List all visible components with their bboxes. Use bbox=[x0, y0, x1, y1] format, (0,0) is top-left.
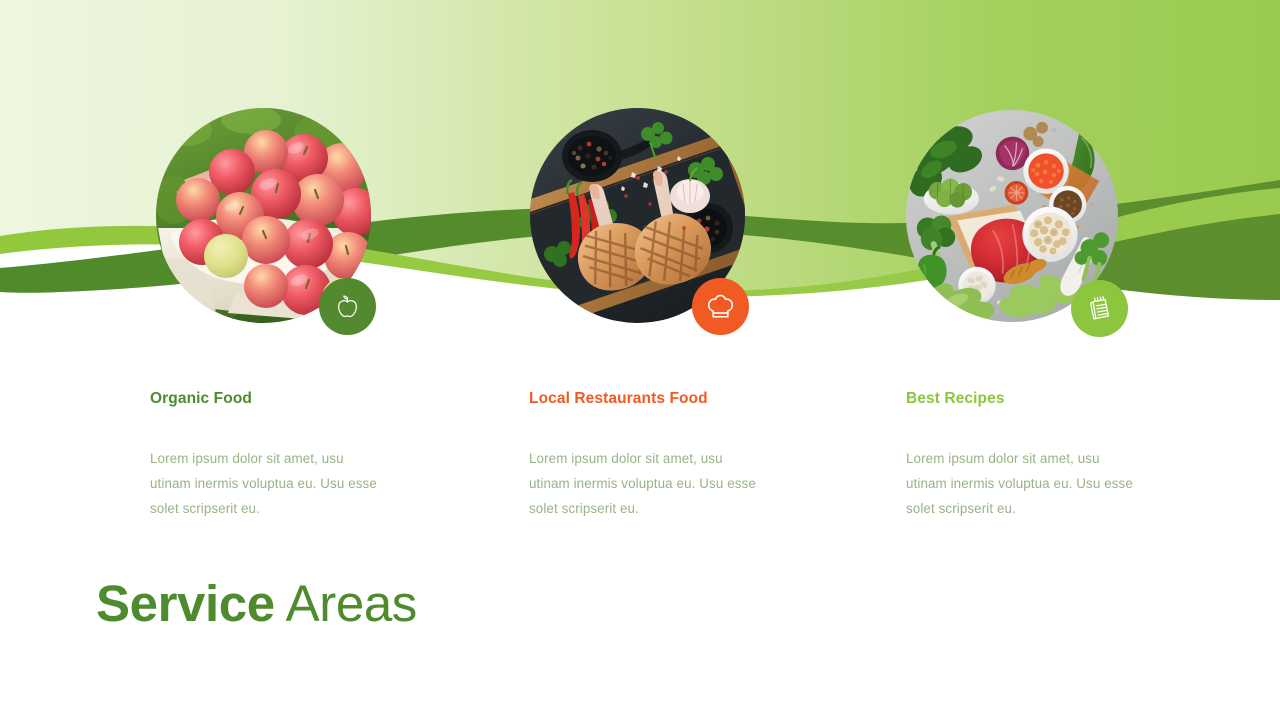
card-local-restaurants-food[interactable]: Local Restaurants Food Lorem ipsum dolor… bbox=[529, 0, 909, 540]
notepad-icon bbox=[1086, 295, 1114, 323]
badge-apple[interactable] bbox=[319, 278, 376, 335]
card-body: Lorem ipsum dolor sit amet, usu utinam i… bbox=[150, 446, 382, 521]
chef-hat-icon bbox=[706, 292, 735, 321]
cards-row: Organic Food Lorem ipsum dolor sit amet,… bbox=[0, 0, 1280, 540]
card-best-recipes[interactable]: Best Recipes Lorem ipsum dolor sit amet,… bbox=[906, 0, 1280, 540]
card-organic-food[interactable]: Organic Food Lorem ipsum dolor sit amet,… bbox=[150, 0, 530, 540]
best-recipes-photo-wrap bbox=[906, 110, 1118, 322]
organic-food-photo-wrap bbox=[156, 108, 371, 323]
card-title: Local Restaurants Food bbox=[529, 390, 708, 408]
page-title-light: Areas bbox=[275, 575, 417, 632]
slide-root: Organic Food Lorem ipsum dolor sit amet,… bbox=[0, 0, 1280, 720]
local-restaurants-photo-wrap bbox=[530, 108, 745, 323]
apple-icon bbox=[334, 293, 361, 320]
badge-chef-hat[interactable] bbox=[692, 278, 749, 335]
badge-notepad[interactable] bbox=[1071, 280, 1128, 337]
card-title: Best Recipes bbox=[906, 390, 1005, 408]
page-title: Service Areas bbox=[96, 573, 417, 635]
card-body: Lorem ipsum dolor sit amet, usu utinam i… bbox=[906, 446, 1144, 521]
card-body: Lorem ipsum dolor sit amet, usu utinam i… bbox=[529, 446, 761, 521]
page-title-strong: Service bbox=[96, 575, 275, 632]
card-title: Organic Food bbox=[150, 390, 252, 408]
